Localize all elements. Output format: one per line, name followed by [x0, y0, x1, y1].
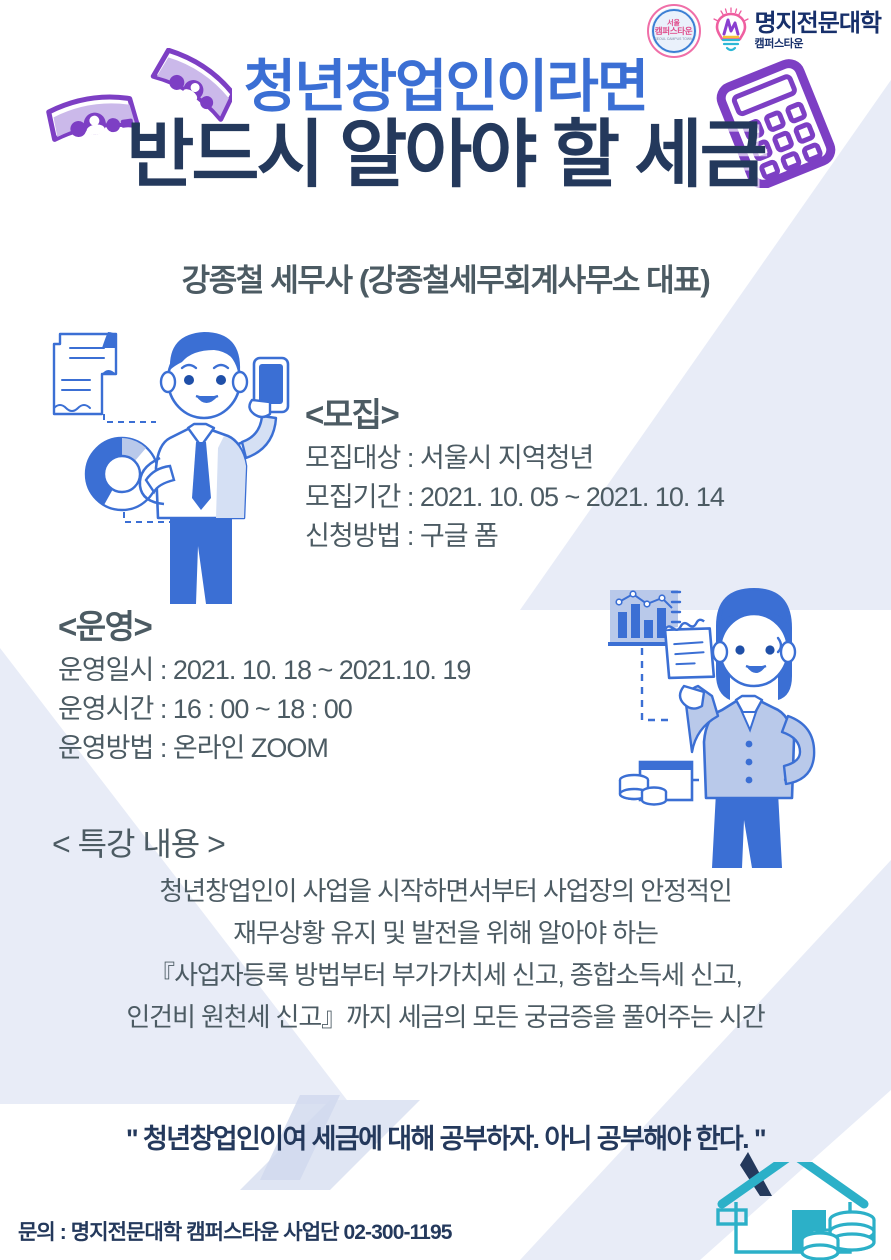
- title-line-2: 반드시 알아야 할 세금: [0, 116, 891, 194]
- seoul-logo-mid-text: 캠퍼스타운: [655, 27, 693, 37]
- lightbulb-icon: [711, 7, 751, 55]
- lecture-line-3: 『사업자등록 방법부터 부가가치세 신고, 종합소득세 신고,: [0, 954, 891, 996]
- operation-section: <운영> 운영일시 : 2021. 10. 18 ~ 2021.10. 19 운…: [58, 608, 470, 768]
- businessman-with-phone-illustration: [46, 318, 314, 614]
- myongji-university-name: 명지전문대학: [755, 12, 881, 36]
- seoul-campus-town-logo: 서울 캠퍼스타운 SEOUL CAMPUS TOWN: [647, 4, 701, 58]
- lecture-heading: < 특강 내용 >: [52, 824, 891, 864]
- lecture-line-1: 청년창업인이 사업을 시작하면서부터 사업장의 안정적인: [0, 870, 891, 912]
- myongji-logo: 명지전문대학 캠퍼스타운: [711, 7, 881, 55]
- header-logo-group: 서울 캠퍼스타운 SEOUL CAMPUS TOWN: [647, 4, 881, 58]
- operation-heading: <운영>: [58, 608, 470, 646]
- poster-canvas: 서울 캠퍼스타운 SEOUL CAMPUS TOWN: [0, 0, 891, 1260]
- lecture-line-4: 인건비 원천세 신고』까지 세금의 모든 궁금증을 풀어주는 시간: [0, 996, 891, 1038]
- operation-line-time: 운영시간 : 16 : 00 ~ 18 : 00: [58, 690, 470, 729]
- contact-info: 문의 : 명지전문대학 캠퍼스타운 사업단 02-300-1195: [18, 1216, 452, 1246]
- house-with-coins-icon: [700, 1162, 886, 1260]
- lecture-content-section: < 특강 내용 > 청년창업인이 사업을 시작하면서부터 사업장의 안정적인 재…: [0, 824, 891, 1038]
- recruit-line-target: 모집대상 : 서울시 지역청년: [305, 439, 724, 478]
- operation-line-method: 운영방법 : 온라인 ZOOM: [58, 729, 470, 768]
- poster-title-zone: 청년창업인이라면 반드시 알아야 할 세금: [0, 58, 891, 194]
- presenter-name: 강종철 세무사 (강종철세무회계사무소 대표): [0, 255, 891, 300]
- closing-quote: " 청년창업인이여 세금에 대해 공부하자. 아니 공부해야 한다. ": [0, 1117, 891, 1156]
- recruit-section: <모집> 모집대상 : 서울시 지역청년 모집기간 : 2021. 10. 05…: [305, 396, 724, 556]
- recruit-line-period: 모집기간 : 2021. 10. 05 ~ 2021. 10. 14: [305, 478, 724, 517]
- operation-line-date: 운영일시 : 2021. 10. 18 ~ 2021.10. 19: [58, 651, 470, 690]
- title-line-1: 청년창업인이라면: [0, 58, 891, 118]
- recruit-heading: <모집>: [305, 396, 724, 434]
- myongji-campus-town-label: 캠퍼스타운: [755, 39, 881, 50]
- seoul-logo-bottom-text: SEOUL CAMPUS TOWN: [655, 38, 693, 41]
- myongji-logo-text: 명지전문대학 캠퍼스타운: [755, 12, 881, 50]
- recruit-line-method: 신청방법 : 구글 폼: [305, 517, 724, 556]
- lecture-line-2: 재무상황 유지 및 발전을 위해 알아야 하는: [0, 912, 891, 954]
